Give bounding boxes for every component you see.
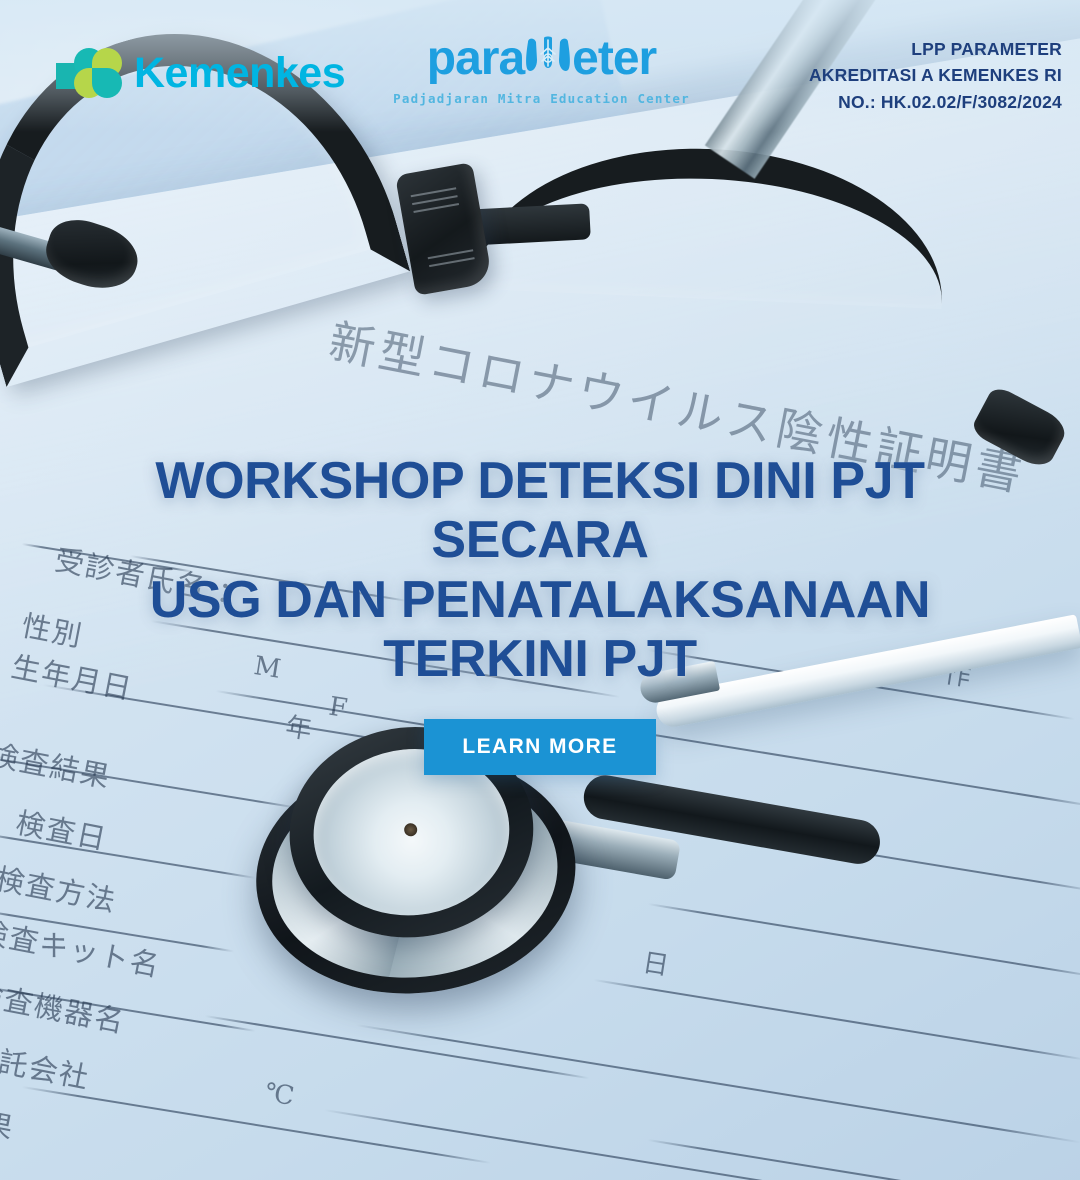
kemenkes-wordmark: Kemenkes — [134, 52, 345, 95]
parameter-wordmark: para eter — [393, 34, 690, 83]
promo-banner: 新型コロナウイルス陰性証明書 受診者氏名 ： 性別 生年月日 検査結果 検査日 … — [0, 0, 1080, 1180]
page-title: WORKSHOP DETEKSI DINI PJT SECARA USG DAN… — [46, 452, 1034, 689]
accreditation-line-1: LPP PARAMETER — [809, 36, 1062, 62]
parameter-logo[interactable]: para eter Padjadjaran Mitra Education Ce… — [393, 34, 690, 106]
accreditation-line-3: NO.: HK.02.02/F/3082/2024 — [809, 89, 1062, 115]
hero-section: WORKSHOP DETEKSI DINI PJT SECARA USG DAN… — [0, 452, 1080, 775]
clip-ridge — [413, 203, 459, 213]
clip-ridge — [411, 187, 457, 197]
kemenkes-logo[interactable]: Kemenkes — [56, 36, 345, 110]
parameter-word-part1: para — [427, 35, 524, 83]
headline-line-1: WORKSHOP DETEKSI DINI PJT SECARA — [46, 452, 1034, 571]
form-mark-celsius: ℃ — [262, 1077, 297, 1111]
clip-ridge — [412, 195, 458, 205]
clip-ridge — [429, 257, 475, 267]
headline-line-3: TERKINI PJT — [46, 630, 1034, 689]
kemenkes-flower-logo-icon — [56, 36, 122, 110]
accreditation-block: LPP PARAMETER AKREDITASI A KEMENKES RI N… — [809, 30, 1062, 115]
lungs-letter-m-icon — [525, 36, 571, 76]
accreditation-line-2: AKREDITASI A KEMENKES RI — [809, 62, 1062, 88]
parameter-word-part2: eter — [572, 35, 656, 83]
learn-more-button[interactable]: LEARN MORE — [424, 719, 655, 775]
logo-petal-bottom-right — [92, 68, 122, 98]
banner-header: Kemenkes para eter Padjadjaran Mitra Edu… — [0, 0, 1080, 140]
form-mark-day: 日 — [640, 942, 673, 983]
parameter-tagline: Padjadjaran Mitra Education Center — [393, 91, 690, 106]
headline-line-2: USG DAN PENATALAKSANAAN — [46, 571, 1034, 630]
cta-container: LEARN MORE — [46, 719, 1034, 775]
clip-ridge — [428, 249, 474, 259]
